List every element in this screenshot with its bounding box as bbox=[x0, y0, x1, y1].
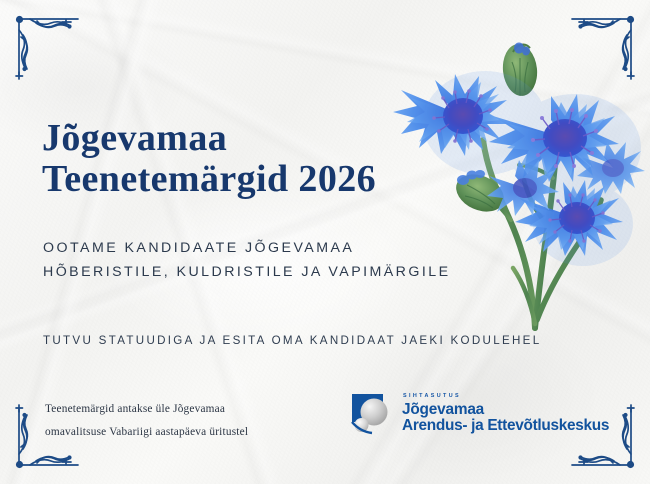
jogevamaa-logo-mark-icon bbox=[351, 392, 395, 436]
logo-line-2: Arendus- ja Ettevõtluskeskus bbox=[402, 418, 609, 433]
page-title: Jõgevamaa Teenetemärgid 2026 bbox=[42, 118, 376, 200]
poster-canvas: Jõgevamaa Teenetemärgid 2026 OOTAME KAND… bbox=[0, 0, 650, 484]
logo-line-1: Jõgevamaa bbox=[402, 402, 609, 417]
subtitle-text: OOTAME KANDIDAATE JÕGEVAMAA HÕBERISTILE,… bbox=[43, 236, 451, 285]
logo-kicker: SIHTASUTUS bbox=[403, 394, 609, 399]
logo-wordmark: SIHTASUTUS Jõgevamaa Arendus- ja Ettevõt… bbox=[402, 394, 609, 433]
footnote-text: Teenetemärgid antakse üle Jõgevamaa omav… bbox=[45, 398, 248, 444]
call-to-action-text: TUTVU STATUUDIGA JA ESITA OMA KANDIDAAT … bbox=[43, 334, 541, 347]
organization-logo: SIHTASUTUS Jõgevamaa Arendus- ja Ettevõt… bbox=[351, 392, 609, 436]
